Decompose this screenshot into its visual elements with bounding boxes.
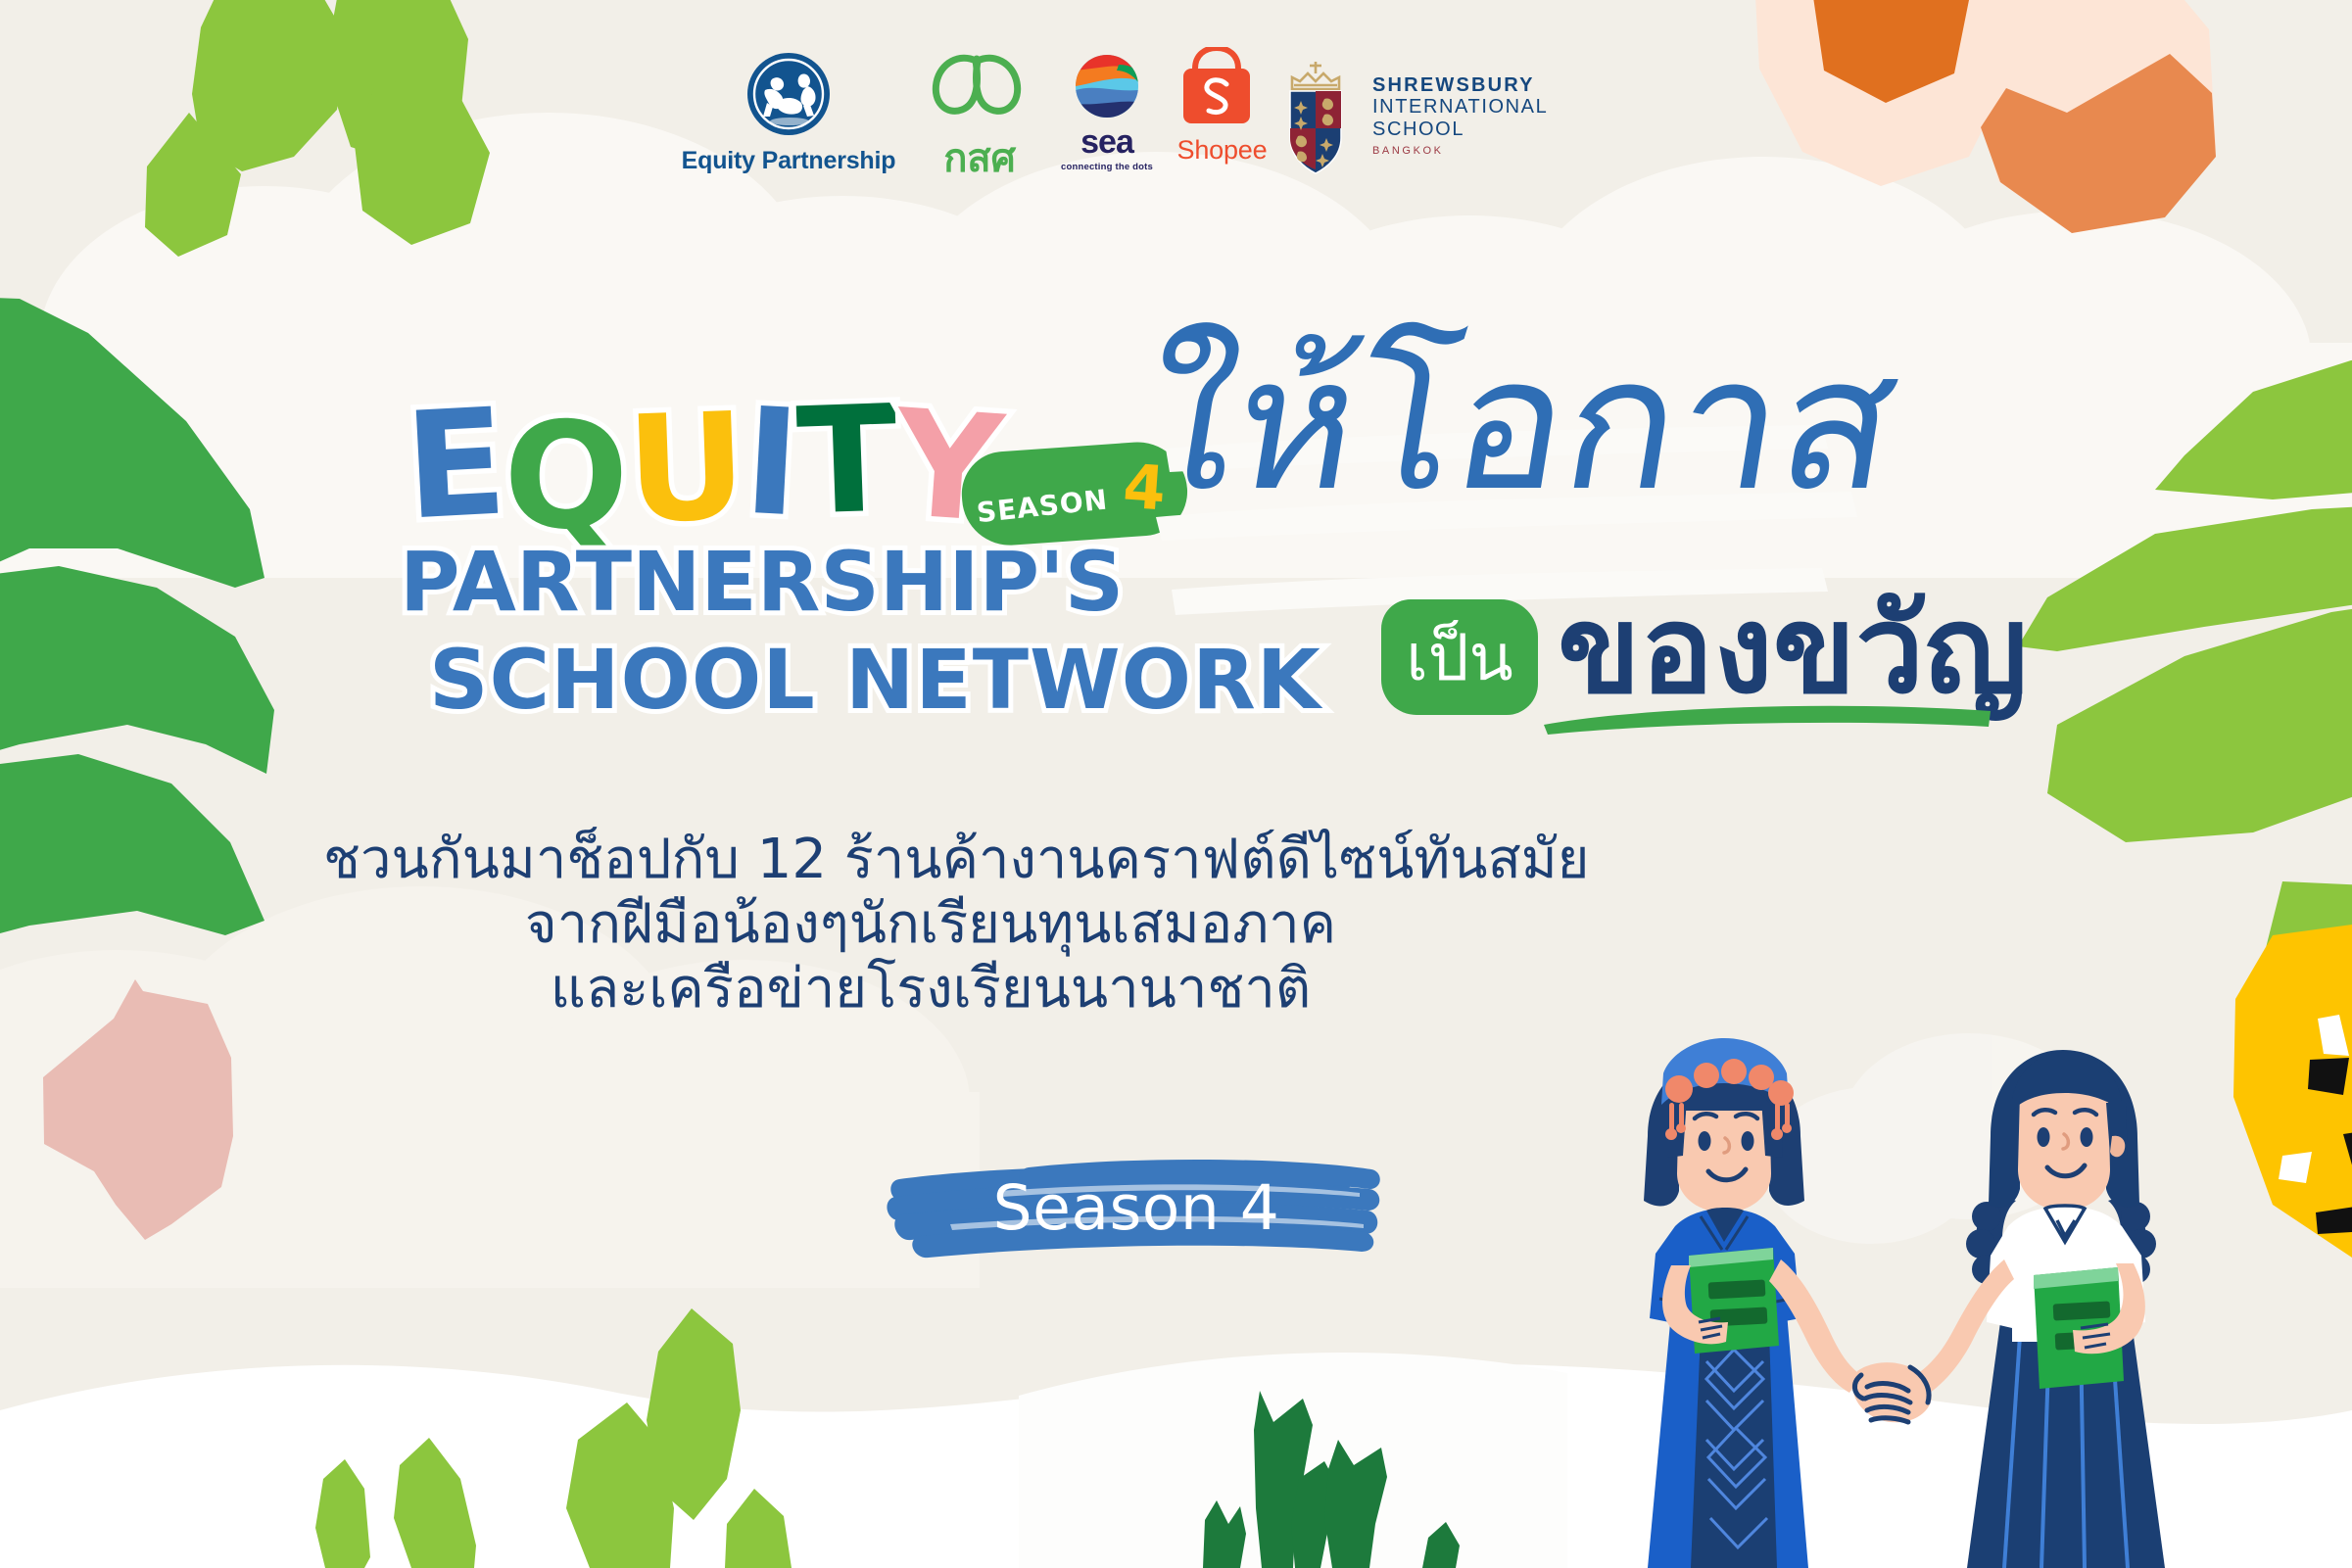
partner-label-shrewsbury-line1: SHREWSBURY (1372, 74, 1548, 96)
held-hands (1853, 1362, 1932, 1422)
partner-logo-bar: Equity Partnership กสศ (666, 47, 1704, 184)
partner-label-shopee: Shopee (1166, 137, 1278, 164)
partner-logo-sea: sea connecting the dots (1048, 47, 1166, 184)
equity-letter-t: T (794, 386, 898, 536)
partner-label-equity-partnership: Equity Partnership (666, 149, 911, 173)
thai-headline-line1: ให้โอกาส (1131, 333, 1909, 517)
two-students-illustration (1577, 1009, 2224, 1568)
equity-wordmark: EQUITY SEASON 4 (400, 392, 1125, 539)
body-copy-line1: ชวนกันมาช็อปกับ 12 ร้านค้างานคราฟต์ดีไซน… (323, 828, 1538, 892)
thai-headline-block: ให้โอกาส เป็น ของขวัญ (1136, 333, 2018, 784)
partner-logo-equity-partnership: Equity Partnership (666, 47, 911, 184)
partner-tagline-sea: connecting the dots (1048, 162, 1166, 172)
equity-partnership-seal-icon (666, 47, 911, 145)
partner-label-shrewsbury-line4: BANGKOK (1372, 145, 1548, 157)
body-copy-line3: และเครือข่ายโรงเรียนนานาชาติ (323, 957, 1538, 1022)
equity-partnership-lockup: EQUITY SEASON 4 PARTNERSHIP'S SCHOOL NET… (400, 392, 1125, 754)
lockup-line-partnerships: PARTNERSHIP'S (400, 541, 1124, 623)
shrewsbury-crest-icon (1278, 52, 1363, 179)
headline-green-underline (1538, 697, 1998, 736)
sea-circle-icon (1048, 47, 1166, 125)
season-4-brush-badge: Season 4 (882, 1146, 1391, 1263)
partner-label-sea: sea (1048, 125, 1166, 159)
left-student-skirt-panel (1691, 1332, 1777, 1568)
partner-label-shrewsbury-line3: SCHOOL (1372, 119, 1548, 140)
promotional-poster: Equity Partnership กสศ (0, 0, 2352, 1568)
equity-letter-q: Q (502, 402, 630, 552)
kosot-butterfly-icon (911, 47, 1038, 143)
partner-logo-shrewsbury: SHREWSBURY INTERNATIONAL SCHOOL BANGKOK (1278, 47, 1592, 184)
thai-headline-line2: ของขวัญ (1558, 590, 2028, 711)
body-copy-line2: จากฝีมือน้องๆนักเรียนทุนเสมอภาค (323, 892, 1538, 957)
partner-label-shrewsbury-line2: INTERNATIONAL (1372, 96, 1548, 118)
season-4-label: Season 4 (882, 1172, 1391, 1244)
partner-logo-kosot: กสศ (911, 47, 1048, 184)
shopee-bag-icon (1166, 47, 1269, 137)
equity-letter-e: E (402, 389, 507, 541)
equity-letters: EQUITY (406, 392, 1000, 539)
equity-letter-i: I (741, 389, 801, 539)
equity-letter-u: U (624, 394, 746, 545)
crown (1292, 62, 1339, 89)
thai-headline-badge: เป็น (1381, 599, 1538, 715)
partner-logo-shopee: Shopee (1166, 47, 1278, 184)
partner-label-kosot: กสศ (911, 139, 1048, 178)
right-student-face (2018, 1093, 2110, 1211)
body-copy: ชวนกันมาช็อปกับ 12 ร้านค้างานคราฟต์ดีไซน… (323, 828, 1538, 1022)
thai-headline-badge-text: เป็น (1381, 626, 1538, 690)
